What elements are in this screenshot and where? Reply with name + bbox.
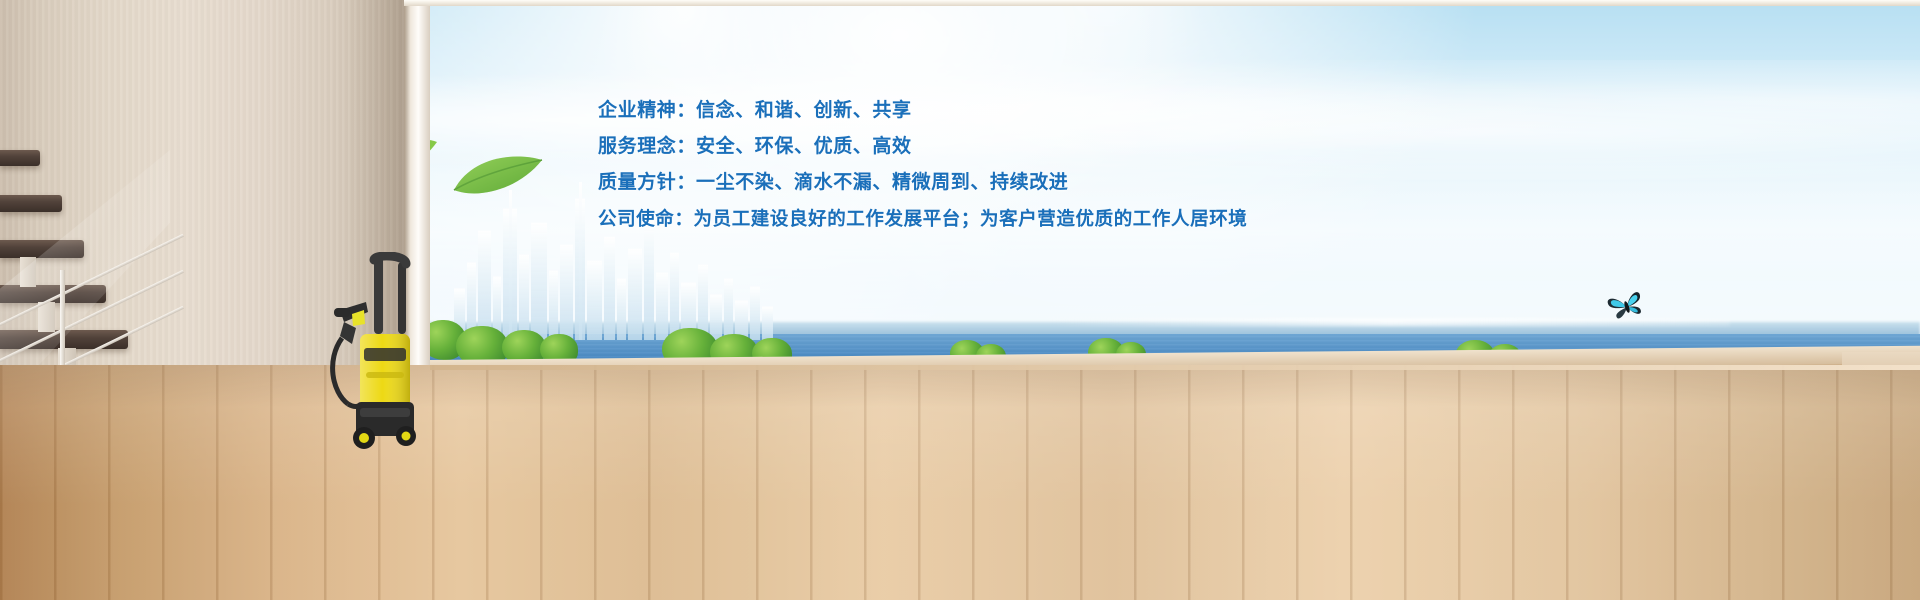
floor-edge [430, 365, 1920, 370]
window-head [404, 0, 1920, 6]
floor-sheen [0, 365, 1920, 600]
mission-line-quality: 质量方针：一尘不染、滴水不漏、精微周到、持续改进 [598, 165, 1378, 201]
hero-banner: 企业精神：信念、和谐、创新、共享 服务理念：安全、环保、优质、高效 质量方针：一… [0, 0, 1920, 600]
pressure-washer [312, 252, 424, 452]
mission-text-block: 企业精神：信念、和谐、创新、共享 服务理念：安全、环保、优质、高效 质量方针：一… [598, 93, 1378, 237]
butterfly-icon [1605, 285, 1649, 329]
leaf-icon-1 [450, 150, 546, 207]
mission-line-mission: 公司使命：为员工建设良好的工作发展平台；为客户营造优质的工作人居环境 [598, 201, 1378, 237]
mission-line-spirit: 企业精神：信念、和谐、创新、共享 [598, 93, 1378, 129]
mission-line-service: 服务理念：安全、环保、优质、高效 [598, 129, 1378, 165]
wood-floor [0, 365, 1920, 600]
